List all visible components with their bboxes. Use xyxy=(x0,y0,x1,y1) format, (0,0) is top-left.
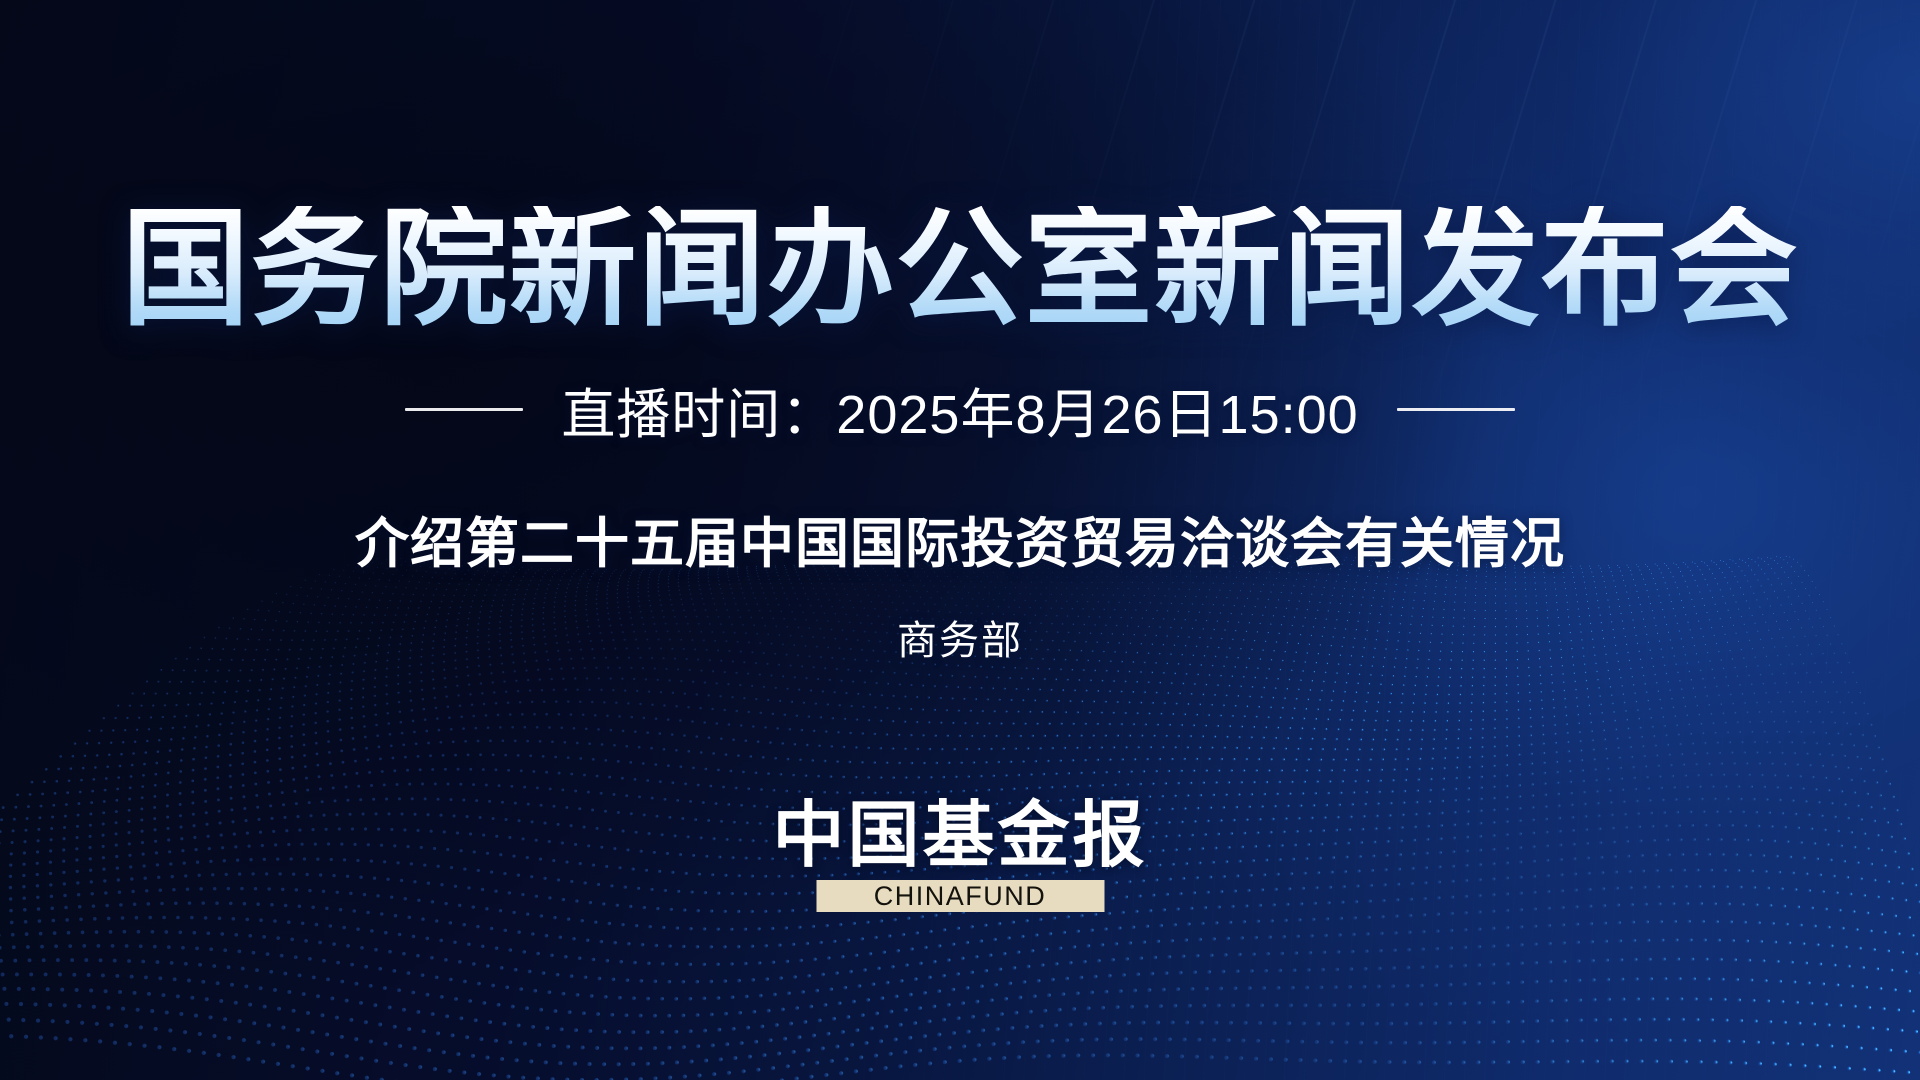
press-conference-poster: 国务院新闻办公室新闻发布会 直播时间：2025年8月26日15:00 介绍第二十… xyxy=(0,0,1920,1080)
logo-english-name: CHINAFUND xyxy=(874,883,1047,910)
poster-content: 国务院新闻办公室新闻发布会 直播时间：2025年8月26日15:00 介绍第二十… xyxy=(0,0,1920,1080)
headline-topic: 介绍第二十五届中国国际投资贸易洽谈会有关情况 xyxy=(355,499,1565,578)
logo-bar: CHINAFUND xyxy=(816,880,1104,912)
organization-name: 商务部 xyxy=(897,608,1023,666)
chinafund-logo: 中国基金报 CHINAFUND xyxy=(772,800,1147,912)
broadcast-time-row: 直播时间：2025年8月26日15:00 xyxy=(405,370,1514,449)
right-rule-decoration xyxy=(1397,408,1515,411)
logo-chinese-name: 中国基金报 xyxy=(772,800,1147,872)
page-title: 国务院新闻办公室新闻发布会 xyxy=(121,206,1798,334)
left-rule-decoration xyxy=(405,408,523,411)
broadcast-time: 直播时间：2025年8月26日15:00 xyxy=(561,370,1358,449)
